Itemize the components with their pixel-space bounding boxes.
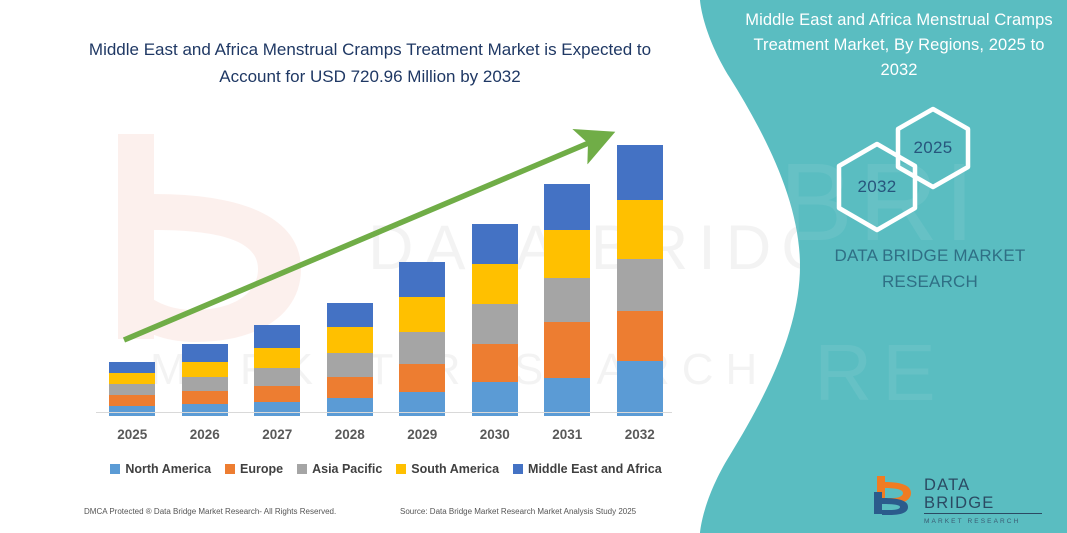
legend-item[interactable]: Asia Pacific [297,462,382,476]
legend-swatch-icon [297,464,307,474]
legend-label: Asia Pacific [312,462,382,476]
footer-source: Source: Data Bridge Market Research Mark… [400,507,636,516]
legend-label: Europe [240,462,283,476]
legend-swatch-icon [110,464,120,474]
logo-tagline: MARKET RESEARCH [924,516,1042,527]
hexagon-label-2025: 2025 [893,105,973,191]
legend-swatch-icon [396,464,406,474]
x-tick-2032: 2032 [604,427,676,442]
legend-label: South America [411,462,499,476]
x-tick-2026: 2026 [169,427,241,442]
x-tick-2028: 2028 [314,427,386,442]
data-bridge-logo: DATA BRIDGE MARKET RESEARCH [872,472,1042,518]
legend-item[interactable]: Middle East and Africa [513,462,662,476]
x-tick-2025: 2025 [96,427,168,442]
panel-title: Middle East and Africa Menstrual Cramps … [744,8,1054,83]
x-tick-2029: 2029 [386,427,458,442]
legend-swatch-icon [225,464,235,474]
legend-label: North America [125,462,211,476]
svg-text:RE: RE [814,328,945,417]
panel-brand-line2: RESEARCH [790,269,1067,295]
logo-wordmark: DATA BRIDGE MARKET RESEARCH [924,476,1042,527]
panel-brand-text: DATA BRIDGE MARKET RESEARCH [790,243,1067,295]
logo-mark-icon [872,474,916,516]
panel-brand-line1: DATA BRIDGE MARKET [790,243,1067,269]
infographic-canvas: DATA BRIDGE MARKET RESEARCH Middle East … [0,0,1067,533]
legend-item[interactable]: North America [110,462,211,476]
legend-label: Middle East and Africa [528,462,662,476]
trend-arrow-icon [96,118,676,418]
x-tick-2030: 2030 [459,427,531,442]
x-axis-tick-labels: 20252026202720282029203020312032 [96,427,672,449]
legend-swatch-icon [513,464,523,474]
logo-name: DATA BRIDGE [924,476,1042,514]
x-tick-2027: 2027 [241,427,313,442]
hexagon-year-2025: 2025 [893,105,973,191]
chart-legend: North AmericaEuropeAsia PacificSouth Ame… [96,458,676,480]
page-title: Middle East and Africa Menstrual Cramps … [70,36,670,90]
legend-item[interactable]: South America [396,462,499,476]
footer-copyright: DMCA Protected ® Data Bridge Market Rese… [84,507,336,516]
legend-item[interactable]: Europe [225,462,283,476]
x-tick-2031: 2031 [531,427,603,442]
